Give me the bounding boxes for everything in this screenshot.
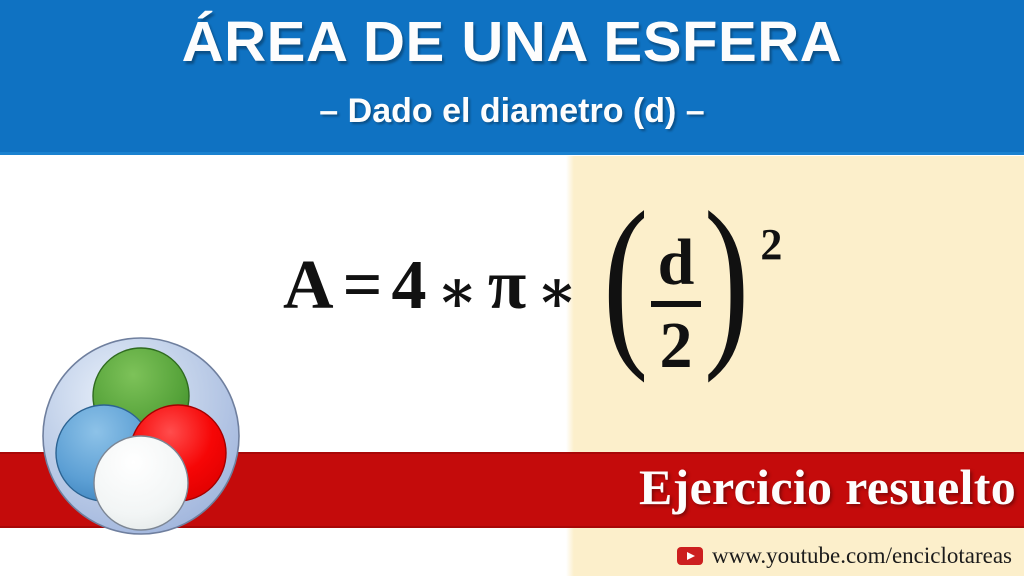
formula-parenthesised-fraction: ( d 2 ) 2 <box>594 211 781 362</box>
formula-exponent: 2 <box>760 223 782 267</box>
formula-coefficient: 4 <box>391 251 426 321</box>
formula-equals-sign: = <box>334 246 392 326</box>
formula-fraction: d 2 <box>651 229 701 380</box>
slide-canvas: ÁREA DE UNA ESFERA – Dado el diametro (d… <box>0 0 1024 576</box>
youtube-channel-footer[interactable]: www.youtube.com/enciclotareas <box>677 544 1012 567</box>
formula-expression: A = 4 ∗ π ∗ ( d 2 ) 2 <box>283 186 780 386</box>
youtube-channel-url[interactable]: www.youtube.com/enciclotareas <box>712 544 1012 567</box>
enciclotareas-logo <box>41 333 241 540</box>
formula-fraction-bar <box>651 301 701 307</box>
exercise-solved-label: Ejercicio resuelto <box>639 462 1016 512</box>
formula-multiply-sign-2: ∗ <box>526 257 587 327</box>
formula-fraction-numerator: d <box>652 229 701 296</box>
formula-fraction-denominator: 2 <box>654 312 699 379</box>
formula-pi-symbol: π <box>488 251 526 321</box>
formula-paren-open: ( <box>603 205 649 353</box>
youtube-play-icon <box>677 547 703 565</box>
header-band: ÁREA DE UNA ESFERA – Dado el diametro (d… <box>0 0 1024 155</box>
page-subtitle: – Dado el diametro (d) – <box>0 94 1024 128</box>
formula-paren-close: ) <box>704 205 750 353</box>
formula-result-variable: A <box>283 251 334 321</box>
formula-multiply-sign-1: ∗ <box>426 257 487 327</box>
page-title: ÁREA DE UNA ESFERA <box>0 14 1024 71</box>
